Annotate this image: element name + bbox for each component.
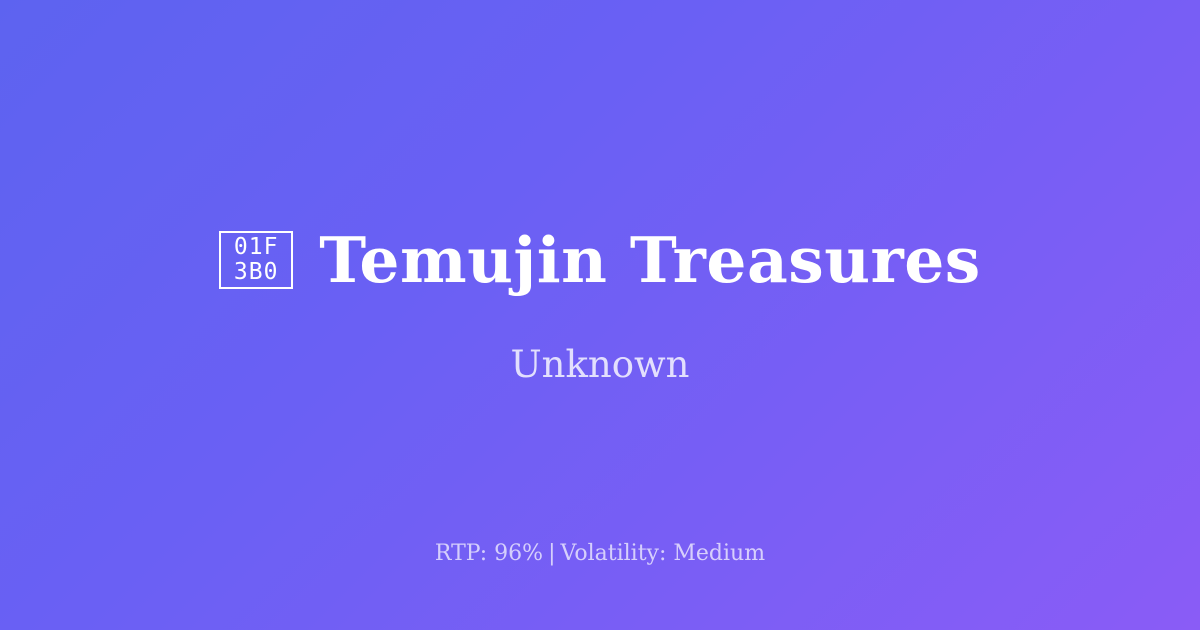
title-row: 01F 3B0 Temujin Treasures [0,227,1200,293]
game-og-card: 01F 3B0 Temujin Treasures Unknown RTP: 9… [0,0,1200,630]
game-title: Temujin Treasures [319,227,981,293]
rtp-value: RTP: 96% [435,541,543,566]
game-provider: Unknown [510,345,689,386]
hero-block: 01F 3B0 Temujin Treasures Unknown [0,227,1200,386]
slot-machine-tofu-icon: 01F 3B0 [219,231,293,289]
tofu-codepoint-line-1: 01F [234,235,279,260]
game-meta-line: RTP: 96%|Volatility: Medium [0,541,1200,567]
tofu-codepoint-line-2: 3B0 [234,260,279,285]
volatility-value: Volatility: Medium [561,541,766,566]
meta-separator: | [543,541,560,566]
